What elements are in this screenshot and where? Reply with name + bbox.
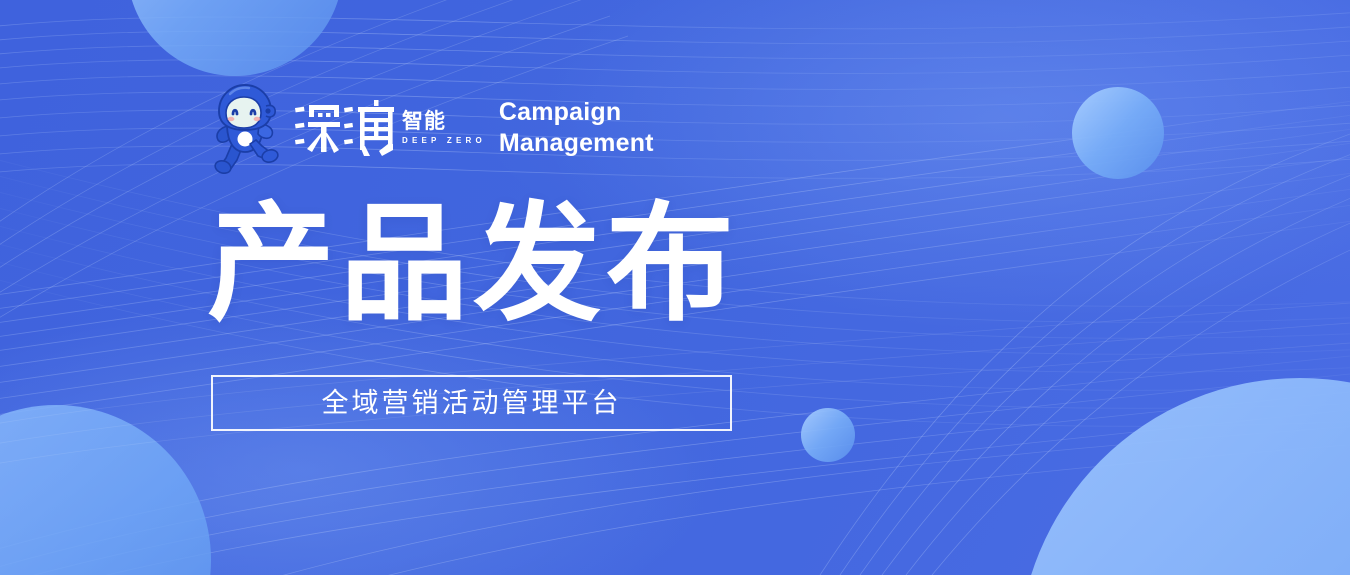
deepzero-robot-mascot-icon (206, 82, 284, 174)
brand-sub-en-text: DEEP ZERO (402, 136, 486, 146)
banner-content: 智能 DEEP ZERO Campaign Management 产品发布 全域… (0, 0, 1350, 575)
product-name-line-2: Management (499, 128, 654, 159)
subtitle-box: 全域营销活动管理平台 (211, 375, 732, 431)
product-name-line-1: Campaign (499, 97, 654, 128)
product-name-block: Campaign Management (499, 97, 654, 159)
brand-sub-wordmark: 智能 DEEP ZERO (402, 99, 486, 157)
product-launch-banner: 智能 DEEP ZERO Campaign Management 产品发布 全域… (0, 0, 1350, 575)
brand-sub-cn-text: 智能 (402, 110, 486, 133)
main-title: 产品发布 (207, 190, 739, 340)
subtitle-text: 全域营销活动管理平台 (322, 388, 622, 418)
brand-wordmark-cn (294, 94, 396, 162)
brand-logo-lockup: 智能 DEEP ZERO Campaign Management (206, 82, 654, 174)
